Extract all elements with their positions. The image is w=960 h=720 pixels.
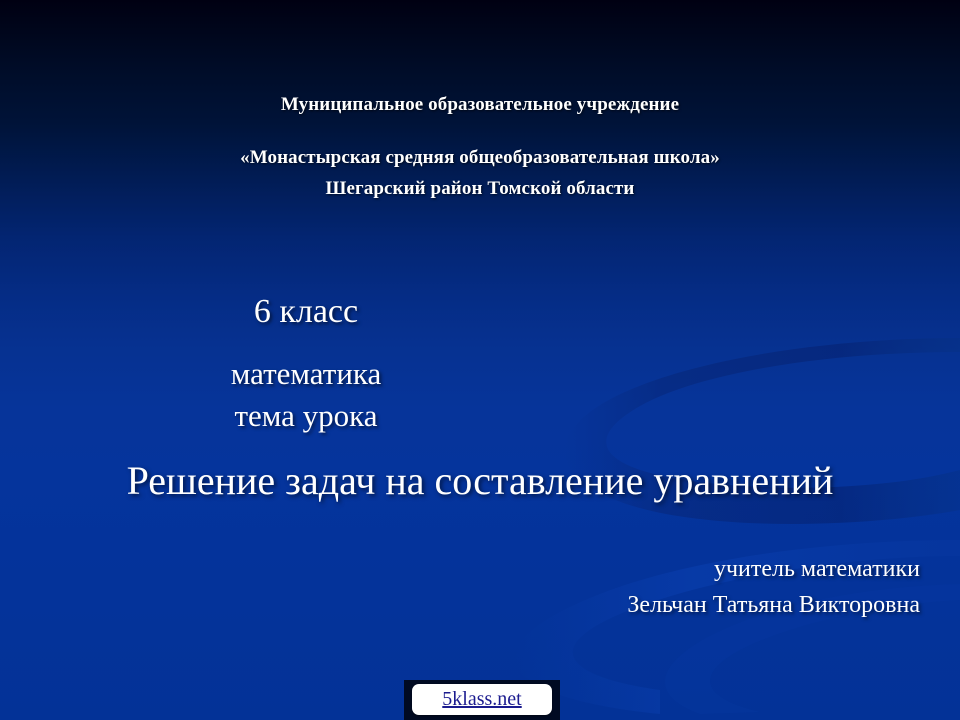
page-title: Решение задач на составление уравнений xyxy=(30,454,930,507)
lesson-grade: 6 класс xyxy=(60,288,552,336)
institution-line-3: Шегарский район Томской области xyxy=(0,176,960,202)
author-name: Зельчан Татьяна Викторовна xyxy=(360,588,920,622)
lesson-topic-label: тема урока xyxy=(60,394,552,438)
site-badge[interactable]: 5klass.net xyxy=(412,684,552,715)
institution-line-2: «Монастырская средняя общеобразовательна… xyxy=(0,145,960,171)
site-badge-label[interactable]: 5klass.net xyxy=(442,688,521,711)
institution-line-1: Муниципальное образовательное учреждение xyxy=(0,92,960,118)
institution-header: Муниципальное образовательное учреждение… xyxy=(0,92,960,202)
author-role: учитель математики xyxy=(360,552,920,586)
title-slide: Муниципальное образовательное учреждение… xyxy=(0,0,960,720)
author-credit: учитель математики Зельчан Татьяна Викто… xyxy=(360,552,920,622)
lesson-subject: математика xyxy=(60,352,552,396)
lesson-info: 6 класс математика тема урока xyxy=(60,288,552,438)
